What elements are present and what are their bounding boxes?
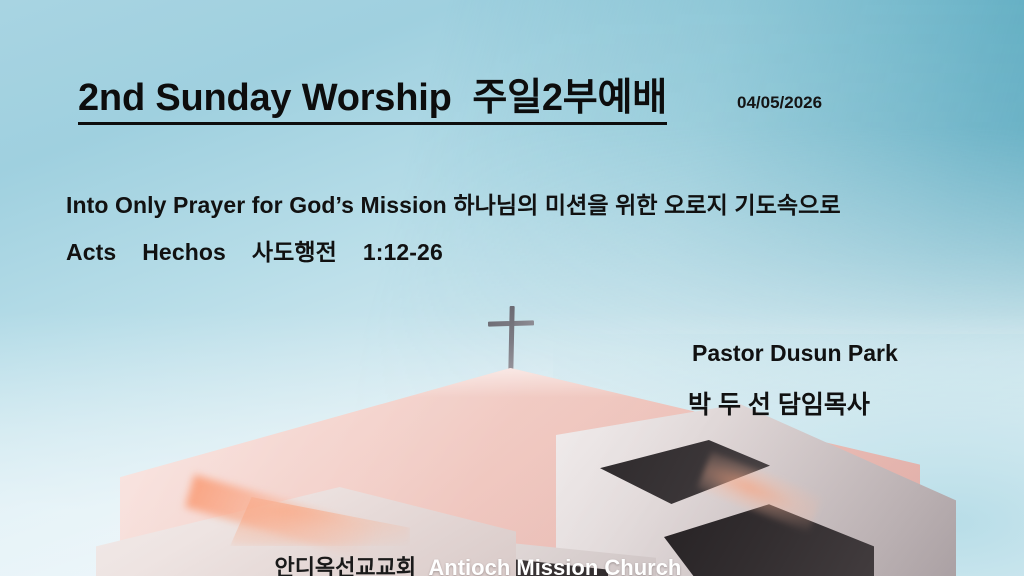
church-name-spacer [416,555,428,576]
scripture-reference: Acts Hechos 사도행전 1:12-26 [66,233,443,267]
pastor-name-korean: 박 두 선 담임목사 [688,385,870,421]
worship-slide: 2nd Sunday Worship 주일2부예배 04/05/2026 Int… [0,0,1024,576]
service-date: 04/05/2026 [737,93,822,113]
service-title: 2nd Sunday Worship 주일2부예배 [78,78,667,125]
church-name-footer: 안디옥선교교회 Antioch Mission Church [250,524,681,576]
church-name-korean: 안디옥선교교회 [274,555,416,576]
church-name-english: Antioch Mission Church [428,555,681,576]
sermon-theme: Into Only Prayer for God’s Mission 하나님의 … [66,186,841,220]
pastor-name-english: Pastor Dusun Park [692,340,898,367]
